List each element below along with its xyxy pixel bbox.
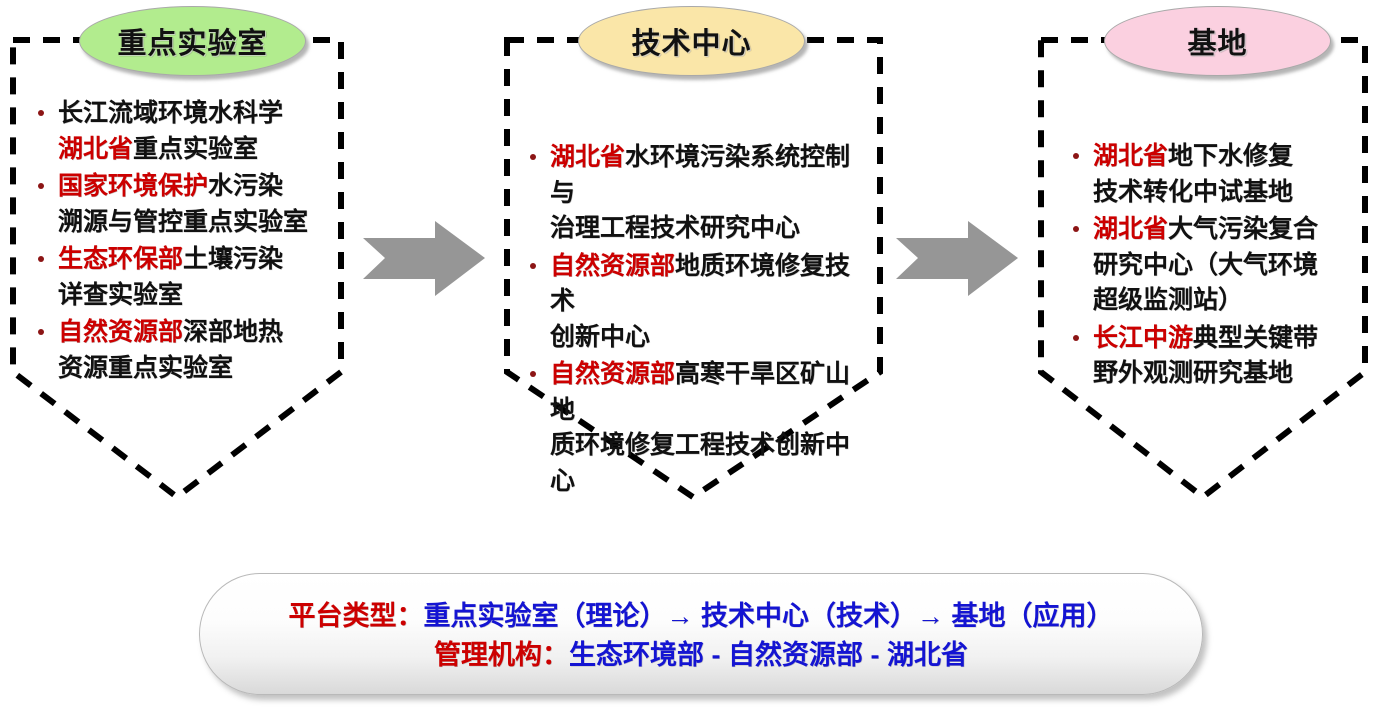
list-item: 自然资源部地质环境修复技术 创新中心	[524, 249, 869, 356]
item-text: 超级监测站）	[1093, 286, 1243, 314]
item-text: 溯源与管控重点实验室	[58, 208, 308, 236]
item-line: 长江流域环境水科学	[58, 99, 283, 127]
list-technology-center: 湖北省水环境污染系统控制与 治理工程技术研究中心 自然资源部地质环境修复技术 创…	[524, 140, 869, 501]
header-label-technology-center: 技术中心	[631, 20, 751, 62]
item-text: 典型关键带	[1193, 324, 1318, 352]
banner-line-managing-body: 管理机构：生态环境部 - 自然资源部 - 湖北省	[434, 636, 968, 675]
banner-line-platform-type: 平台类型：重点实验室（理论）→ 技术中心（技术）→ 基地（应用）	[288, 597, 1113, 636]
arrow-center-to-base	[896, 221, 1018, 296]
header-label-base: 基地	[1187, 20, 1247, 62]
item-text: 治理工程技术研究中心	[550, 214, 800, 242]
item-text-highlight: 国家环境保护	[58, 172, 208, 200]
summary-banner: 平台类型：重点实验室（理论）→ 技术中心（技术）→ 基地（应用） 管理机构：生态…	[199, 573, 1203, 695]
list-base: 湖北省地下水修复 技术转化中试基地 湖北省大气污染复合 研究中心（大气环境 超级…	[1067, 139, 1357, 394]
item-text-highlight: 长江中游	[1093, 324, 1193, 352]
item-text: 水污染	[208, 172, 283, 200]
list-item: 湖北省大气污染复合 研究中心（大气环境 超级监测站）	[1067, 212, 1357, 319]
item-text-highlight: 湖北省	[1093, 215, 1168, 243]
item-text: 资源重点实验室	[58, 354, 233, 382]
item-text-highlight: 湖北省	[58, 135, 133, 163]
right-arrow-icon	[896, 221, 1018, 296]
right-arrow-icon	[363, 221, 485, 296]
diagram-canvas: 重点实验室 长江流域环境水科学 湖北省重点实验室 国家环境保护水污染 溯源与管控…	[0, 0, 1377, 709]
item-text: 野外观测研究基地	[1093, 359, 1293, 387]
list-item: 长江中游典型关键带 野外观测研究基地	[1067, 321, 1357, 392]
item-text-highlight: 生态环保部	[58, 245, 183, 273]
item-text: 大气污染复合	[1168, 215, 1318, 243]
list-item: 国家环境保护水污染 溯源与管控重点实验室	[32, 169, 332, 240]
item-text-highlight: 自然资源部	[550, 360, 675, 388]
item-text: 土壤污染	[183, 245, 283, 273]
item-text-highlight: 自然资源部	[550, 252, 675, 280]
banner-label-platform-type: 平台类型：	[288, 601, 423, 631]
item-text: 创新中心	[550, 323, 650, 351]
banner-value-platform-type: 重点实验室（理论）→ 技术中心（技术）→ 基地（应用）	[423, 601, 1113, 631]
arrow-lab-to-center	[363, 221, 485, 296]
item-text: 技术转化中试基地	[1093, 178, 1293, 206]
list-key-laboratory: 长江流域环境水科学 湖北省重点实验室 国家环境保护水污染 溯源与管控重点实验室 …	[32, 96, 332, 388]
list-item: 湖北省地下水修复 技术转化中试基地	[1067, 139, 1357, 210]
item-text: 详查实验室	[58, 281, 183, 309]
list-item: 自然资源部深部地热 资源重点实验室	[32, 315, 332, 386]
item-text: 深部地热	[183, 318, 283, 346]
list-item: 生态环保部土壤污染 详查实验室	[32, 242, 332, 313]
item-text: 长江流域环境水科学	[58, 99, 283, 127]
banner-label-managing-body: 管理机构：	[434, 640, 569, 670]
header-ellipse-base: 基地	[1104, 6, 1331, 76]
item-text: 研究中心（大气环境	[1093, 251, 1318, 279]
banner-value-managing-body: 生态环境部 - 自然资源部 - 湖北省	[569, 640, 968, 670]
list-item: 长江流域环境水科学 湖北省重点实验室	[32, 96, 332, 167]
list-item: 湖北省水环境污染系统控制与 治理工程技术研究中心	[524, 140, 869, 247]
item-text: 地下水修复	[1168, 142, 1293, 170]
item-text: 重点实验室	[133, 135, 258, 163]
item-text-highlight: 湖北省	[1093, 142, 1168, 170]
list-item: 自然资源部高寒干旱区矿山地 质环境修复工程技术创新中心	[524, 357, 869, 499]
item-text-highlight: 自然资源部	[58, 318, 183, 346]
header-ellipse-technology-center: 技术中心	[578, 6, 805, 76]
item-text: 质环境修复工程技术创新中心	[550, 431, 850, 495]
header-ellipse-key-laboratory: 重点实验室	[79, 6, 306, 76]
header-label-key-laboratory: 重点实验室	[117, 20, 267, 62]
item-text-highlight: 湖北省	[550, 143, 625, 171]
